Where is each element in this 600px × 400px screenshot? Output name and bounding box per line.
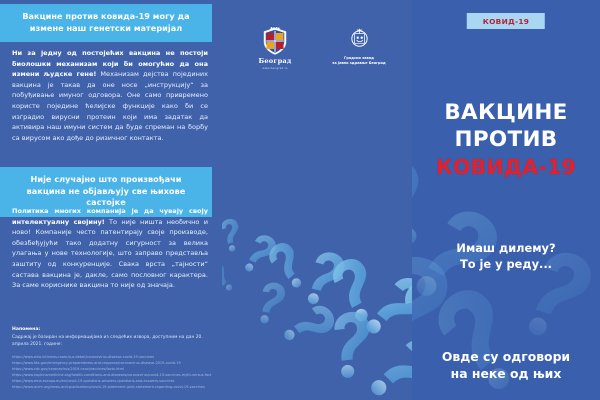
headline: ВАКЦИНЕ ПРОТИВ КОВИДА-19: [412, 100, 600, 181]
right-panel: КОВИД-19 ВАКЦИНЕ ПРОТИВ КОВИДА-19 Имаш д…: [412, 0, 600, 400]
subheadline-line-1: Имаш дилему?: [412, 240, 600, 256]
section-body-1: Ни за једну од постојећих вакцина не пос…: [12, 48, 208, 143]
subheadline: Имаш дилему? То је у реду...: [412, 240, 600, 272]
kovid-19-badge: КОВИД-19: [467, 13, 545, 29]
footnote-body: Садржај је базиран на информацијама из с…: [12, 335, 212, 349]
headline-line-3: КОВИДА-19: [412, 154, 600, 181]
beograd-wordmark: Београд: [246, 57, 304, 65]
footnote-title: Напомена:: [12, 327, 212, 334]
section-body-2-text: То није ништа необично и ново! Компаније…: [12, 218, 208, 290]
zavod-caption: Градски заводза јавно здравље Београд: [330, 56, 388, 66]
logo-zavod: Градски заводза јавно здравље Београд: [330, 26, 388, 66]
zavod-caption-line1: Градски заводза јавно здравље Београд: [332, 56, 385, 65]
tagline: Овде су одговори на неке од њих: [412, 348, 600, 383]
subheadline-line-2: То је у реду...: [412, 256, 600, 272]
left-panel: Вакцине против ковида-19 могу да измене …: [0, 0, 222, 400]
headline-line-2: ПРОТИВ: [412, 127, 600, 154]
zavod-emblem-icon: [346, 26, 373, 53]
tagline-line-1: Овде су одговори: [412, 348, 600, 365]
footnote-link[interactable]: https://www.acrm.org/news-and-publicatio…: [12, 384, 212, 390]
beograd-crest-icon: [260, 26, 290, 56]
headline-line-1: ВАКЦИНЕ: [412, 100, 600, 127]
brochure-page: Вакцине против ковида-19 могу да измене …: [0, 0, 600, 400]
footnote: Напомена: Садржај је базиран на информац…: [12, 327, 212, 390]
center-panel: Београд www.beograd.rs Градски заводза ј…: [222, 0, 412, 400]
footnote-link-list: https://www.who.int/news-room/q-a-detail…: [12, 354, 212, 391]
logo-row: Београд www.beograd.rs Градски заводза ј…: [222, 26, 412, 70]
tagline-line-2: на неке од њих: [412, 365, 600, 382]
section-body-1-text: Механизам дејства појединих вакцина је т…: [12, 70, 208, 142]
logo-beograd: Београд www.beograd.rs: [246, 26, 304, 70]
section-band-2-label: Није случајно што произвођачи вакцина не…: [27, 174, 186, 207]
section-band-1-label: Вакцине против ковида-19 могу да измене …: [22, 11, 189, 33]
section-body-2: Политика многих компанија је да чувају с…: [12, 206, 208, 291]
question-mark-pattern: [222, 120, 412, 400]
section-band-1: Вакцине против ковида-19 могу да измене …: [0, 4, 212, 42]
beograd-url: www.beograd.rs: [246, 66, 304, 70]
